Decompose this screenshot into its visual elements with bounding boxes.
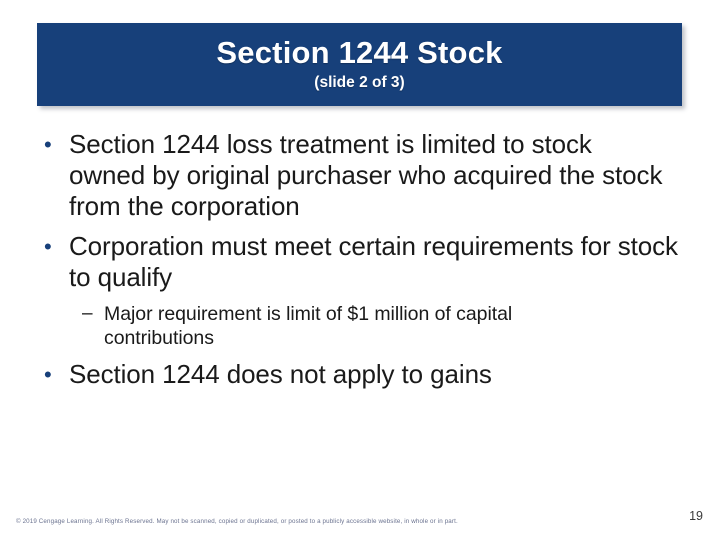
bullet-item-1: • Section 1244 loss treatment is limited… bbox=[38, 129, 688, 222]
bullet-marker-icon: • bbox=[38, 231, 69, 262]
bullet-marker-icon: • bbox=[38, 129, 69, 160]
slide-title-banner: Section 1244 Stock (slide 2 of 3) bbox=[37, 23, 682, 106]
bullet-text-2: Corporation must meet certain requiremen… bbox=[69, 231, 688, 293]
sub-bullet-item-1: – Major requirement is limit of $1 milli… bbox=[82, 302, 688, 350]
bullet-item-2: • Corporation must meet certain requirem… bbox=[38, 231, 688, 293]
slide-subtitle: (slide 2 of 3) bbox=[314, 74, 404, 92]
bullet-text-3: Section 1244 does not apply to gains bbox=[69, 359, 688, 390]
bullet-item-3: • Section 1244 does not apply to gains bbox=[38, 359, 688, 390]
copyright-notice: © 2019 Cengage Learning. All Rights Rese… bbox=[16, 518, 458, 525]
slide-number: 19 bbox=[689, 509, 703, 523]
bullet-marker-icon: • bbox=[38, 359, 69, 390]
slide-body: • Section 1244 loss treatment is limited… bbox=[38, 129, 688, 399]
sub-bullet-text-1: Major requirement is limit of $1 million… bbox=[104, 302, 624, 350]
dash-marker-icon: – bbox=[82, 302, 104, 326]
bullet-text-1: Section 1244 loss treatment is limited t… bbox=[69, 129, 669, 222]
page-title: Section 1244 Stock bbox=[216, 37, 502, 70]
